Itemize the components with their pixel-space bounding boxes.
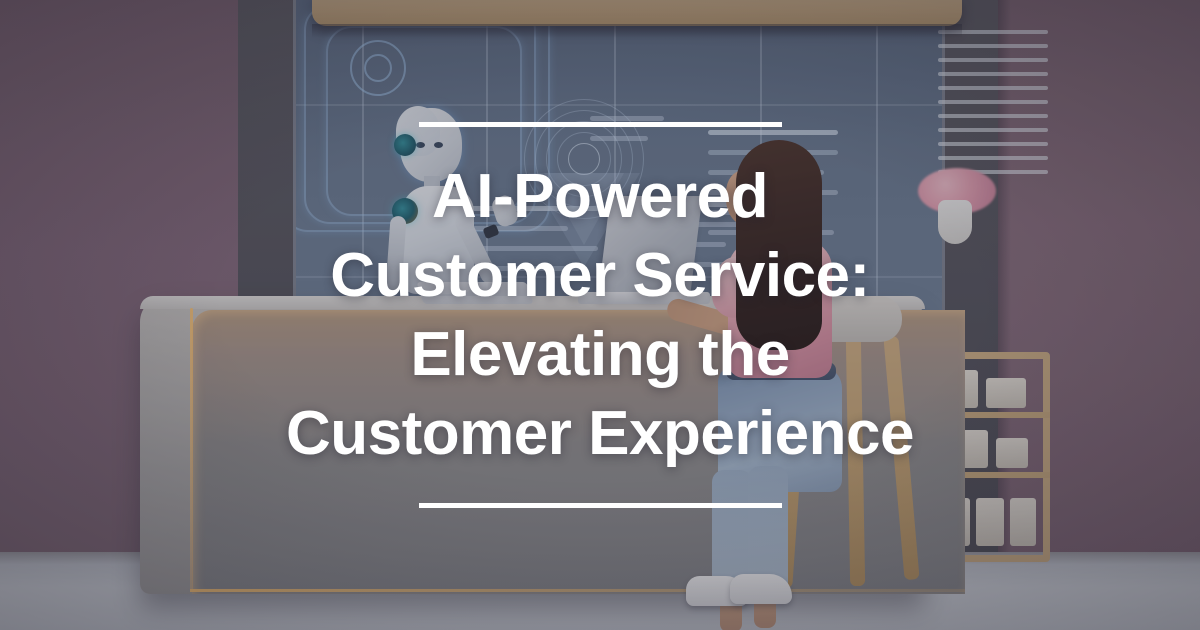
title-line-3: Elevating the — [286, 315, 914, 394]
title-line-1: AI-Powered — [286, 157, 914, 236]
banner-image: AI-Powered Customer Service: Elevating t… — [0, 0, 1200, 630]
page-title: AI-Powered Customer Service: Elevating t… — [286, 157, 914, 473]
title-line-2: Customer Service: — [286, 236, 914, 315]
title-overlay: AI-Powered Customer Service: Elevating t… — [0, 0, 1200, 630]
top-divider-rule — [419, 122, 782, 127]
bottom-divider-rule — [419, 503, 782, 508]
title-line-4: Customer Experience — [286, 394, 914, 473]
